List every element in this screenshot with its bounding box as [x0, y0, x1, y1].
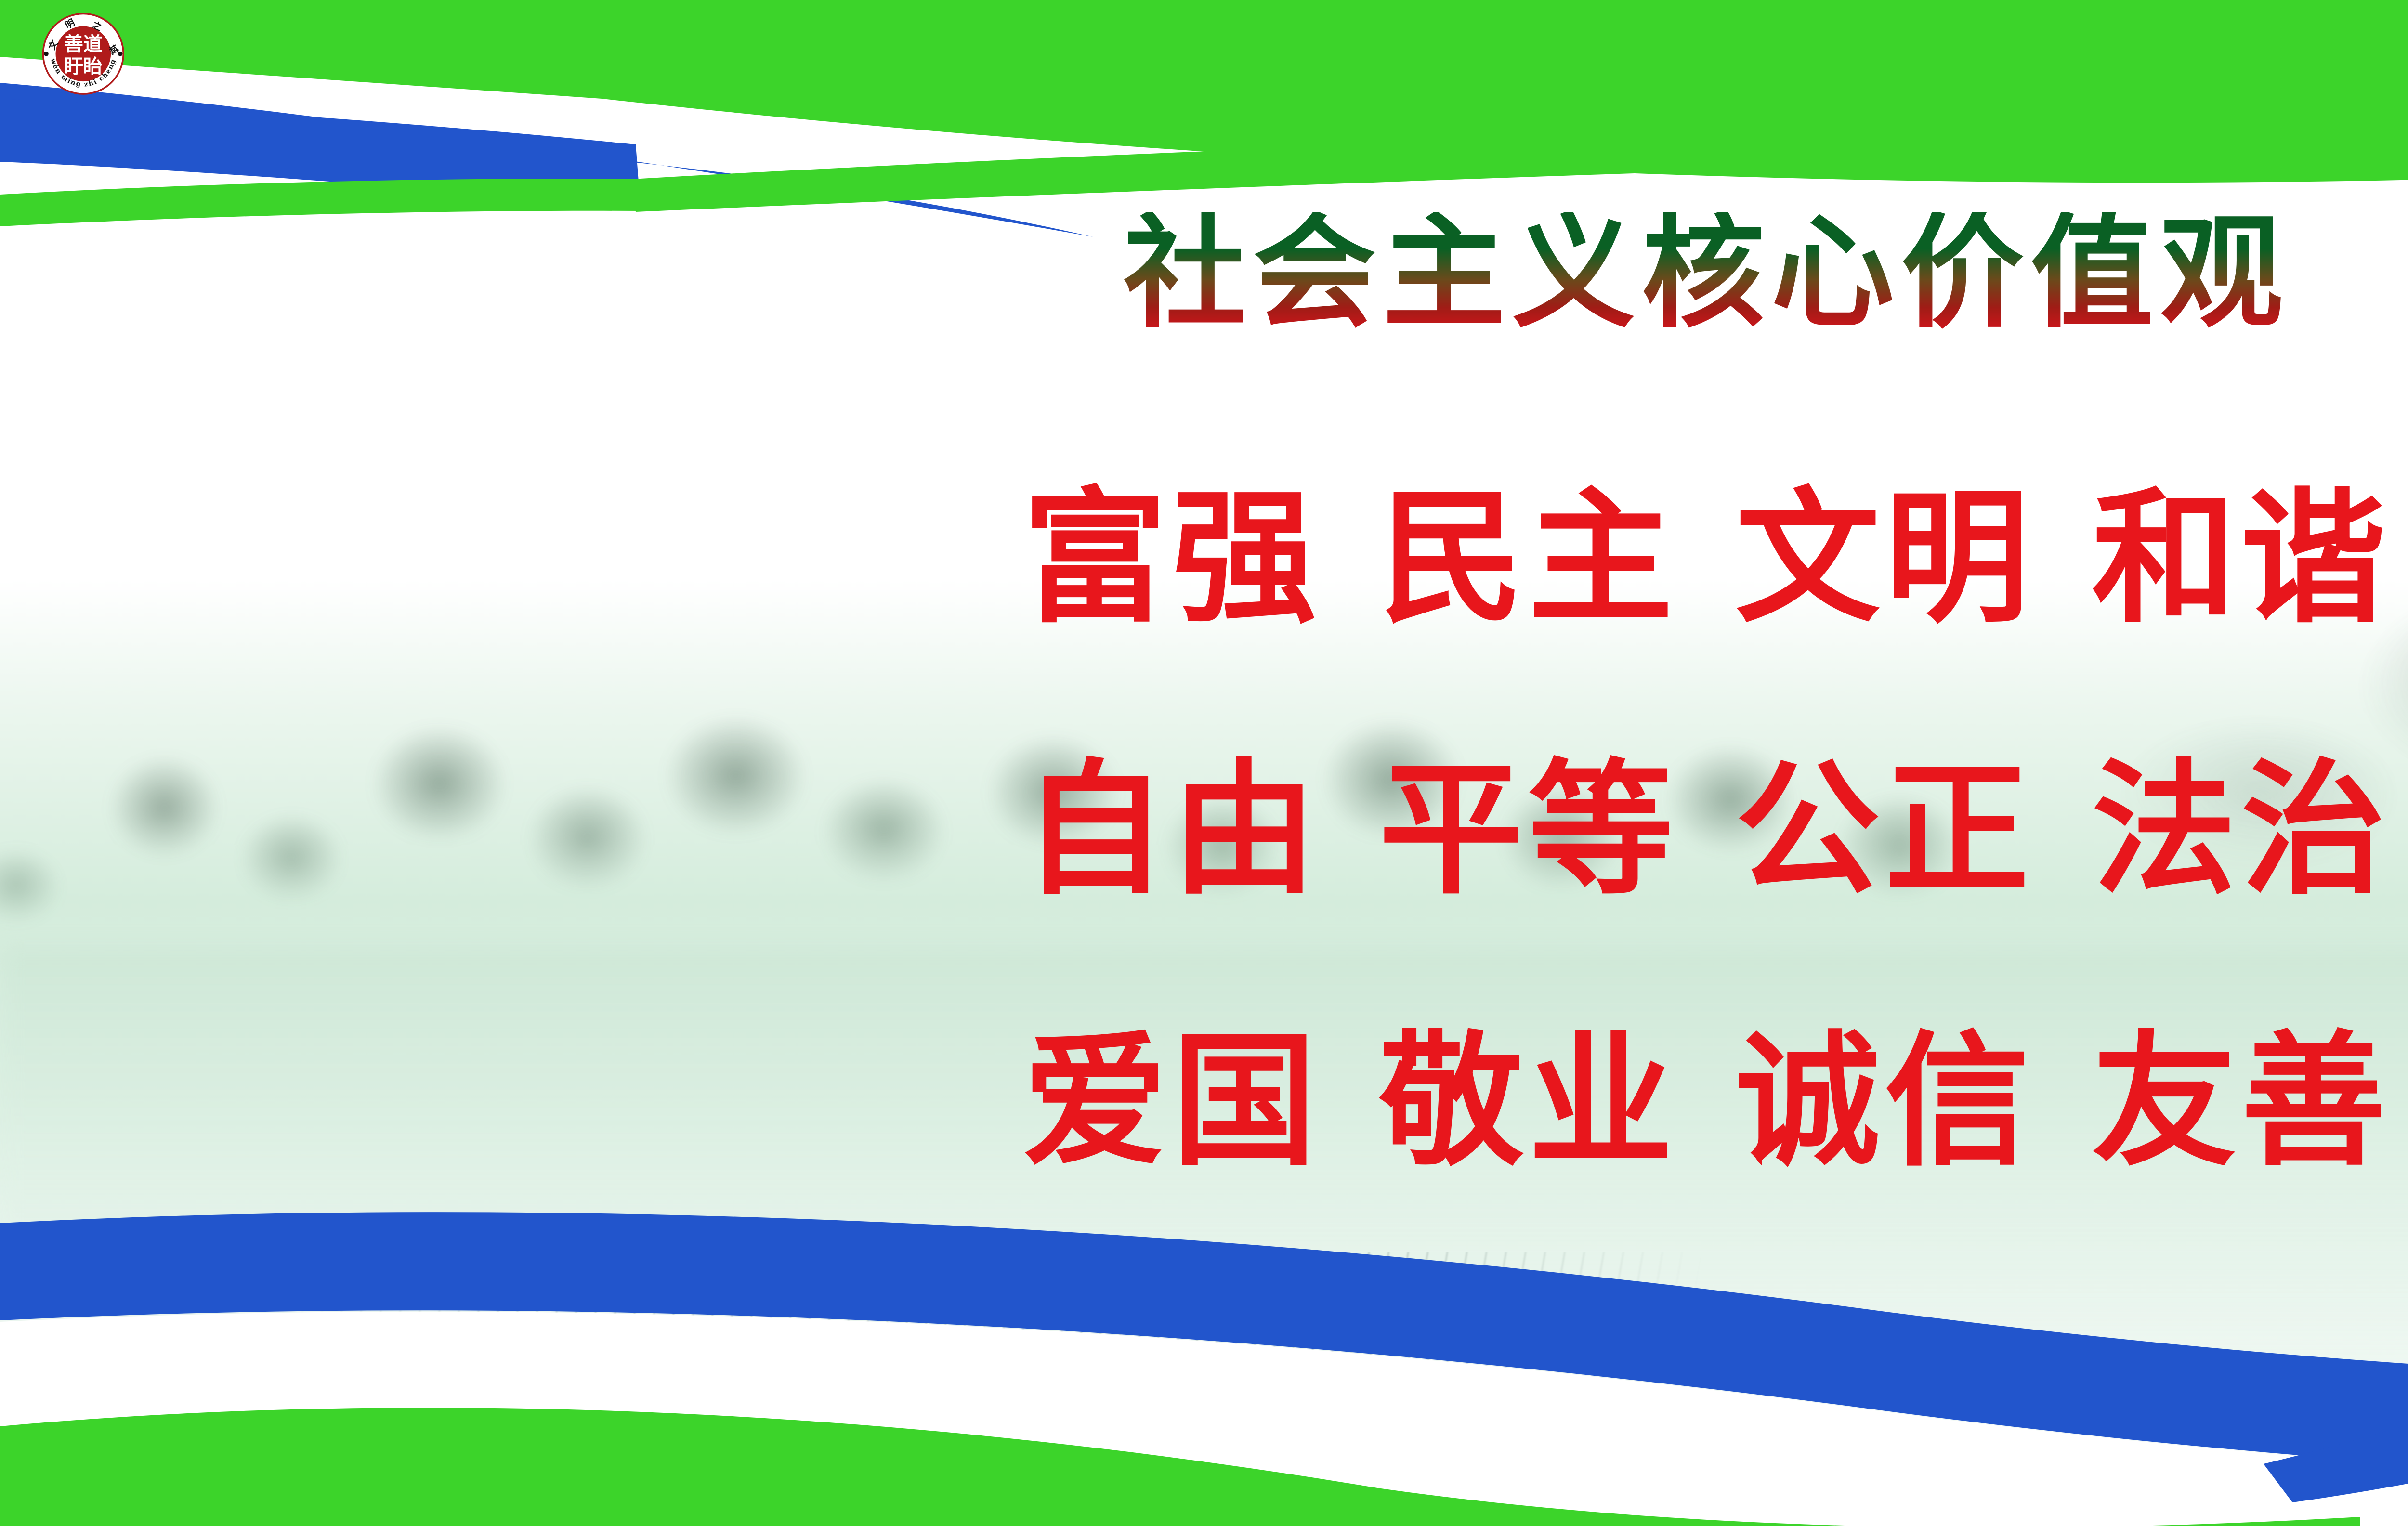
value-word: 文明 [1736, 474, 2034, 642]
value-word: 诚信 [1736, 1017, 2034, 1186]
value-word: 法治 [2092, 746, 2391, 914]
value-word: 敬业 [1379, 1017, 1678, 1186]
core-values-list: 富强民主文明和谐 自由平等公正法治 爱国敬业诚信友善 [0, 486, 2408, 1301]
value-word: 平等 [1379, 746, 1678, 914]
propaganda-banner: 文 明 之 城 善道 盱眙 wén míng zhī chéng 社会主义核心价… [0, 0, 2408, 1526]
slogan-row-3: 爱国敬业诚信友善 [0, 1030, 2408, 1174]
value-word: 公正 [1736, 746, 2034, 914]
value-word: 富强 [1023, 474, 1322, 642]
slogan-row-2: 自由平等公正法治 [0, 758, 2408, 902]
value-word: 自由 [1023, 746, 1322, 914]
value-word: 和谐 [2092, 474, 2391, 642]
banner-content: 社会主义核心价值观 富强民主文明和谐 自由平等公正法治 爱国敬业诚信友善 [0, 0, 2408, 1526]
value-word: 爱国 [1023, 1017, 1322, 1186]
value-word: 友善 [2092, 1017, 2391, 1186]
slogan-row-1: 富强民主文明和谐 [0, 486, 2408, 631]
page-title: 社会主义核心价值观 [0, 212, 2408, 335]
value-word: 民主 [1379, 474, 1678, 642]
